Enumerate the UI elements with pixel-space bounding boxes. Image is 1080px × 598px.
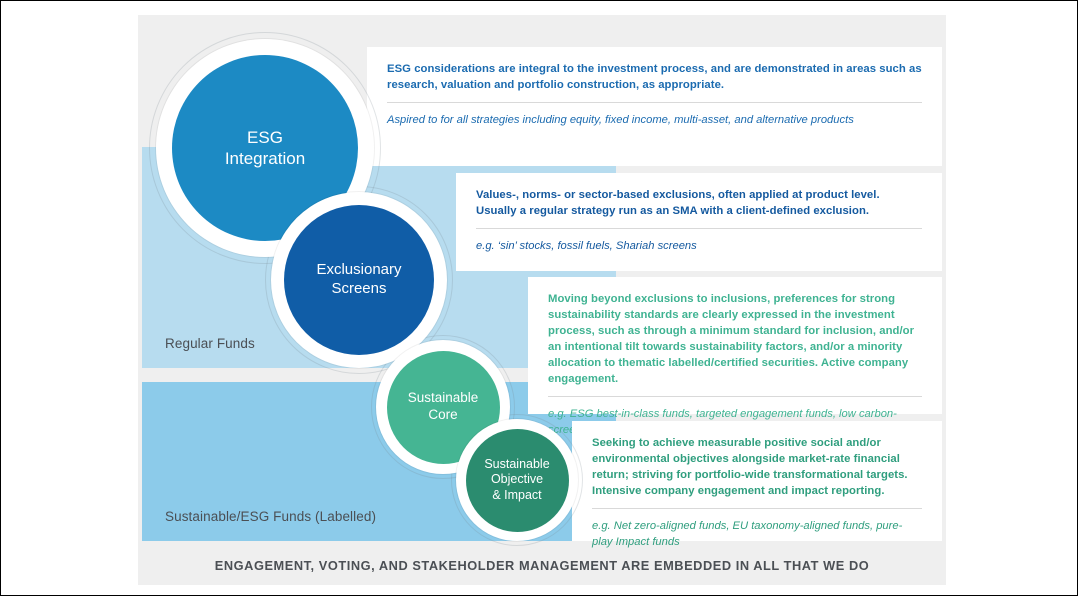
panel-exclusionary-screens-description: Values-, norms- or sector-based exclusio… [476,187,922,219]
bottom-banner: ENGAGEMENT, VOTING, AND STAKEHOLDER MANA… [142,549,942,582]
panel-sustainable-objective-impact-description: Seeking to achieve measurable positive s… [592,435,922,499]
circle-esg-integration-label-line2: Integration [225,149,305,168]
circle-exclusionary-screens-core: Exclusionary Screens [284,205,434,355]
circle-sustainable-objective-impact: Sustainable Objective & Impact [456,419,578,541]
panel-divider [476,228,922,229]
panel-sustainable-objective-impact-example: e.g. Net zero-aligned funds, EU taxonomy… [592,518,922,550]
panel-divider [387,102,922,103]
circle-sustainable-objective-impact-core: Sustainable Objective & Impact [466,429,569,532]
panel-sustainable-core-description: Moving beyond exclusions to inclusions, … [548,291,922,387]
panel-exclusionary-screens-example: e.g. ‘sin’ stocks, fossil fuels, Shariah… [476,238,922,254]
circle-sustainable-core-label-line1: Sustainable [408,390,479,405]
circle-esg-integration-label-line1: ESG [247,128,283,147]
circle-exclusionary-screens: Exclusionary Screens [271,192,447,368]
circle-sustainable-objective-impact-label-line3: & Impact [492,488,541,502]
circle-exclusionary-screens-label-line2: Screens [331,280,386,297]
panel-esg-integration-example: Aspired to for all strategies including … [387,112,922,128]
panel-divider [592,508,922,509]
esg-spectrum-diagram: Regular Funds Sustainable/ESG Funds (Lab… [138,15,946,585]
circle-sustainable-objective-impact-label-line2: Objective [491,472,543,486]
circle-sustainable-objective-impact-label-line1: Sustainable [484,457,549,471]
panel-exclusionary-screens: Values-, norms- or sector-based exclusio… [456,173,942,271]
panel-sustainable-objective-impact: Seeking to achieve measurable positive s… [572,421,942,541]
circle-exclusionary-screens-label-line1: Exclusionary [316,261,401,278]
panel-esg-integration-description: ESG considerations are integral to the i… [387,61,922,93]
fund-band-regular-label: Regular Funds [165,336,255,351]
panel-esg-integration: ESG considerations are integral to the i… [367,47,942,166]
page-frame: Regular Funds Sustainable/ESG Funds (Lab… [0,0,1078,596]
panel-sustainable-core: Moving beyond exclusions to inclusions, … [528,277,942,414]
circle-sustainable-core-label-line2: Core [428,407,457,422]
panel-divider [548,396,922,397]
fund-band-sustainable-label: Sustainable/ESG Funds (Labelled) [165,509,376,524]
bottom-banner-text: ENGAGEMENT, VOTING, AND STAKEHOLDER MANA… [215,558,869,573]
